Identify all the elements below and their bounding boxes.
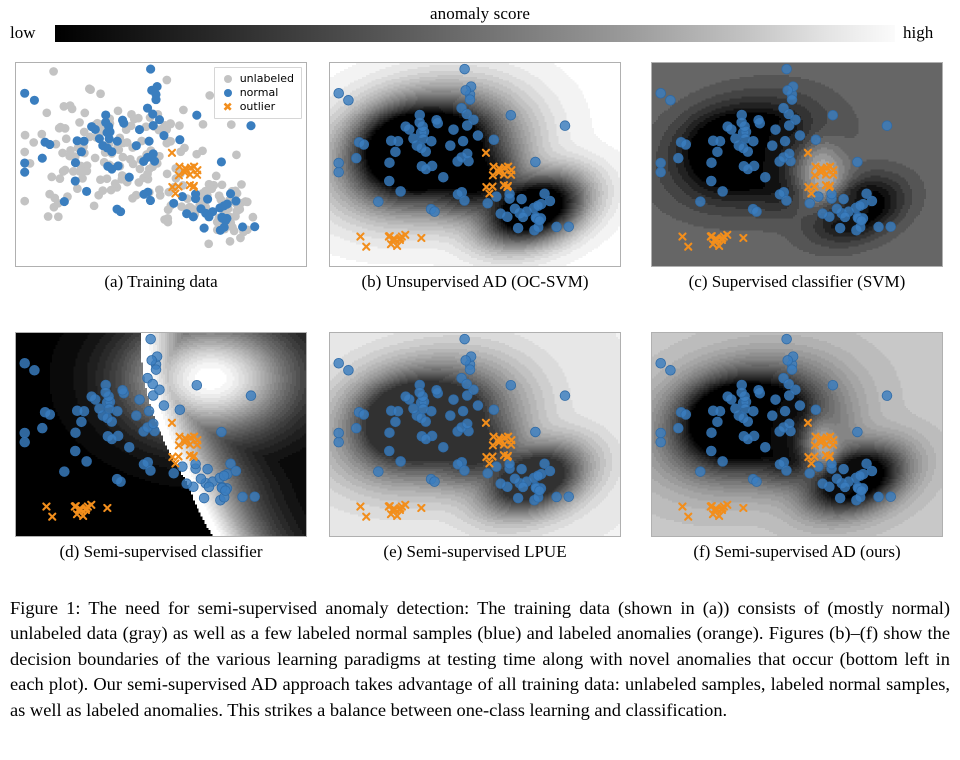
panel-semi-supervised-ad-ours	[651, 332, 943, 537]
panel-d-plot	[16, 333, 306, 536]
caption-panel-e: (e) Semi-supervised LPUE	[329, 542, 621, 562]
panel-semi-supervised-classifier	[15, 332, 307, 537]
colorbar-row: low high	[0, 22, 960, 44]
legend-label-normal: normal	[240, 86, 279, 100]
legend-item-normal: normal	[220, 86, 294, 100]
figure-root: anomaly score low high unlabeled normal …	[0, 0, 960, 760]
caption-panel-f: (f) Semi-supervised AD (ours)	[651, 542, 943, 562]
scatter-legend: unlabeled normal ✖ outlier	[214, 67, 302, 119]
legend-label-outlier: outlier	[240, 100, 275, 114]
caption-panel-c: (c) Supervised classifier (SVM)	[651, 272, 943, 292]
colorbar-title: anomaly score	[0, 4, 960, 24]
legend-x-outlier-icon: ✖	[220, 101, 236, 113]
legend-item-unlabeled: unlabeled	[220, 72, 294, 86]
panel-unsupervised-ad	[329, 62, 621, 267]
panel-c-plot	[652, 63, 942, 266]
panel-semi-supervised-lpue	[329, 332, 621, 537]
panel-e-plot	[330, 333, 620, 536]
figure-caption: Figure 1: The need for semi-supervised a…	[10, 596, 950, 723]
caption-panel-a: (a) Training data	[15, 272, 307, 292]
caption-panel-d: (d) Semi-supervised classifier	[15, 542, 307, 562]
panel-b-plot	[330, 63, 620, 266]
panel-f-plot	[652, 333, 942, 536]
colorbar-high-label: high	[903, 23, 933, 43]
colorbar-low-label: low	[10, 23, 36, 43]
legend-circle-unlabeled-icon	[220, 72, 236, 86]
legend-label-unlabeled: unlabeled	[240, 72, 294, 86]
legend-circle-normal-icon	[220, 86, 236, 100]
panel-supervised-classifier	[651, 62, 943, 267]
colorbar-gradient	[55, 25, 895, 42]
panel-training-data: unlabeled normal ✖ outlier	[15, 62, 307, 267]
legend-item-outlier: ✖ outlier	[220, 100, 294, 114]
caption-panel-b: (b) Unsupervised AD (OC-SVM)	[329, 272, 621, 292]
